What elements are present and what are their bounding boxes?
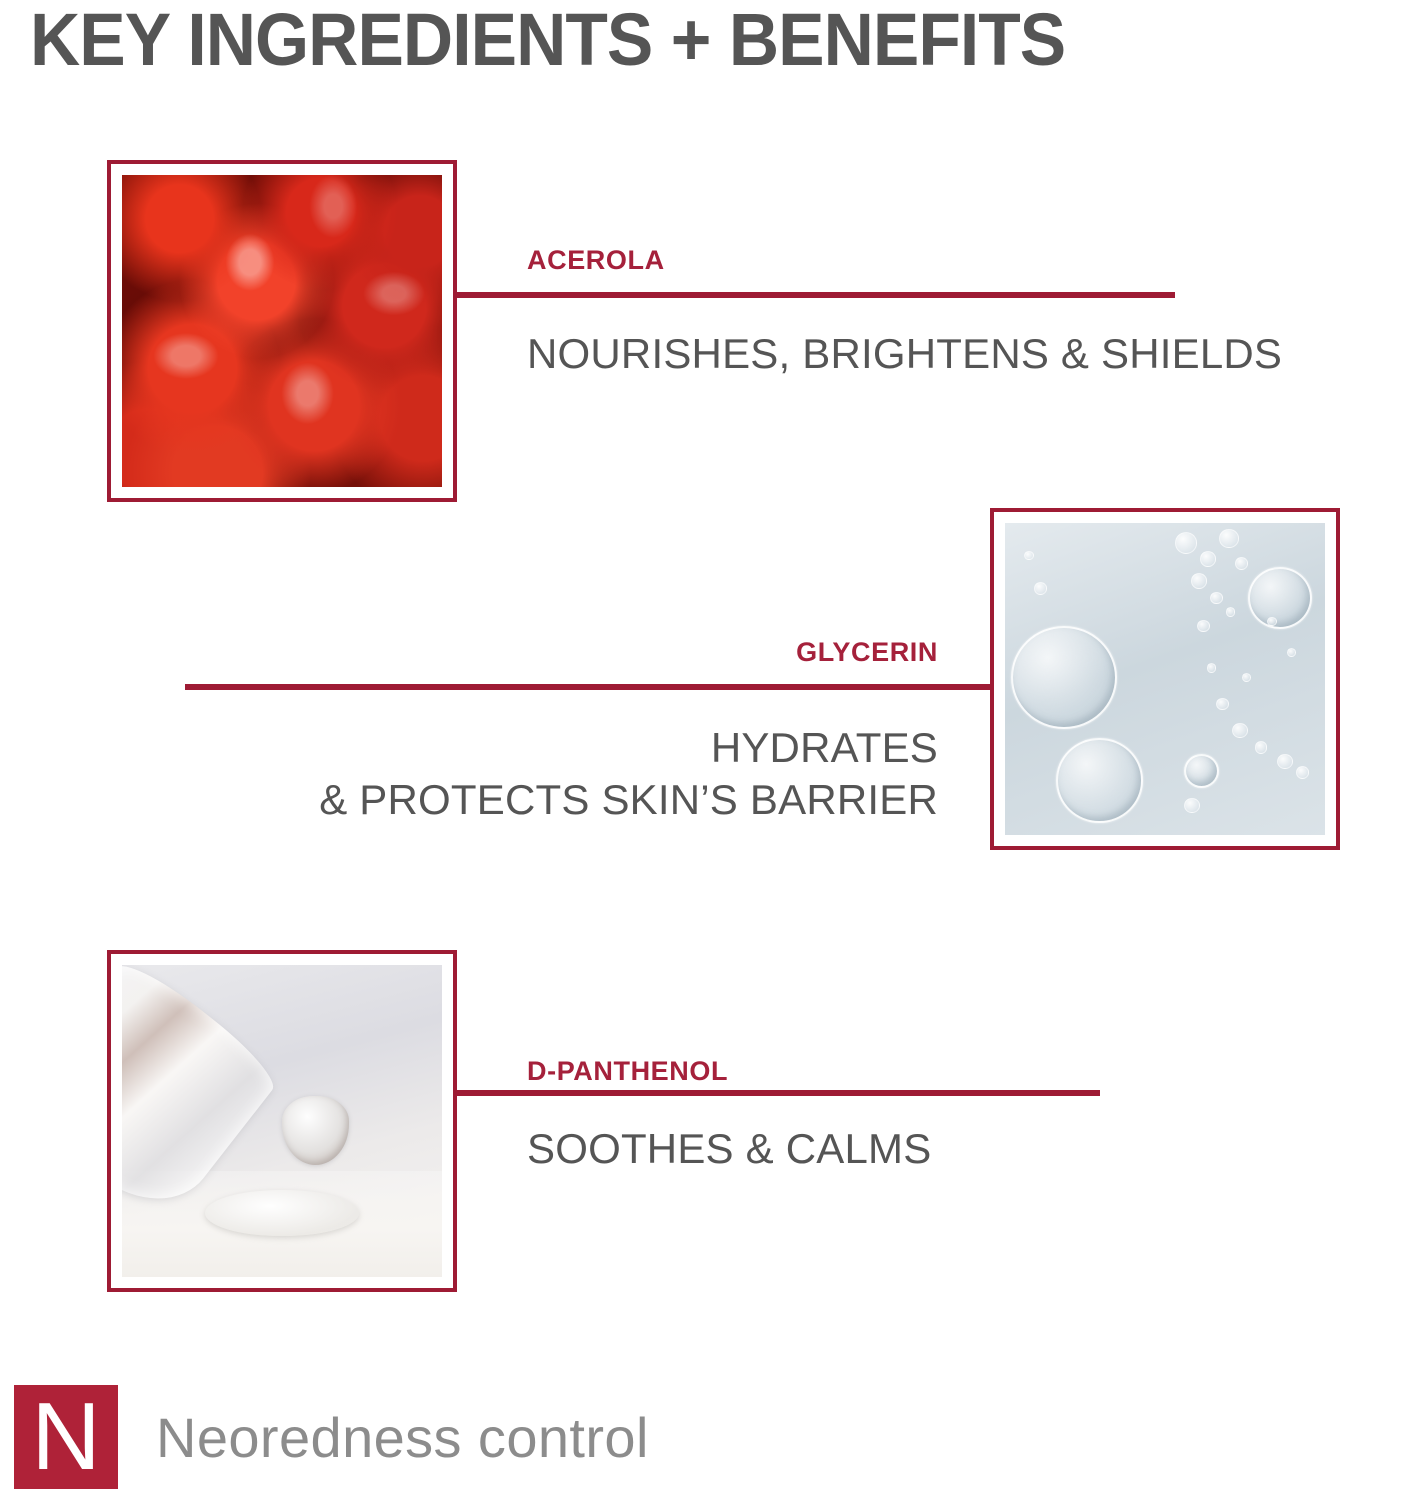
ingredient-label-acerola: ACEROLA	[527, 245, 665, 276]
dropper-droplet-photo	[122, 965, 442, 1277]
brand-lockup: N Neoredness control	[14, 1385, 649, 1489]
ingredient-label-glycerin: GLYCERIN	[525, 637, 938, 668]
connector-line-glycerin	[185, 684, 992, 690]
glycerin-bubbles-photo	[1005, 523, 1325, 835]
ingredient-image-glycerin	[990, 508, 1340, 850]
ingredient-image-acerola	[107, 160, 457, 502]
brand-name: Neoredness control	[156, 1405, 649, 1470]
brand-logo-icon: N	[14, 1385, 118, 1489]
ingredient-benefit-panthenol: SOOTHES & CALMS	[527, 1123, 931, 1175]
ingredient-benefit-glycerin: HYDRATES & PROTECTS SKIN’S BARRIER	[238, 722, 938, 826]
connector-line-acerola	[455, 292, 1175, 298]
acerola-berries-photo	[122, 175, 442, 487]
ingredient-label-panthenol: D-PANTHENOL	[527, 1056, 728, 1087]
ingredient-image-panthenol	[107, 950, 457, 1292]
page-title: KEY INGREDIENTS + BENEFITS	[30, 2, 1065, 78]
connector-line-panthenol	[455, 1090, 1100, 1096]
ingredient-benefit-acerola: NOURISHES, BRIGHTENS & SHIELDS	[527, 328, 1282, 380]
